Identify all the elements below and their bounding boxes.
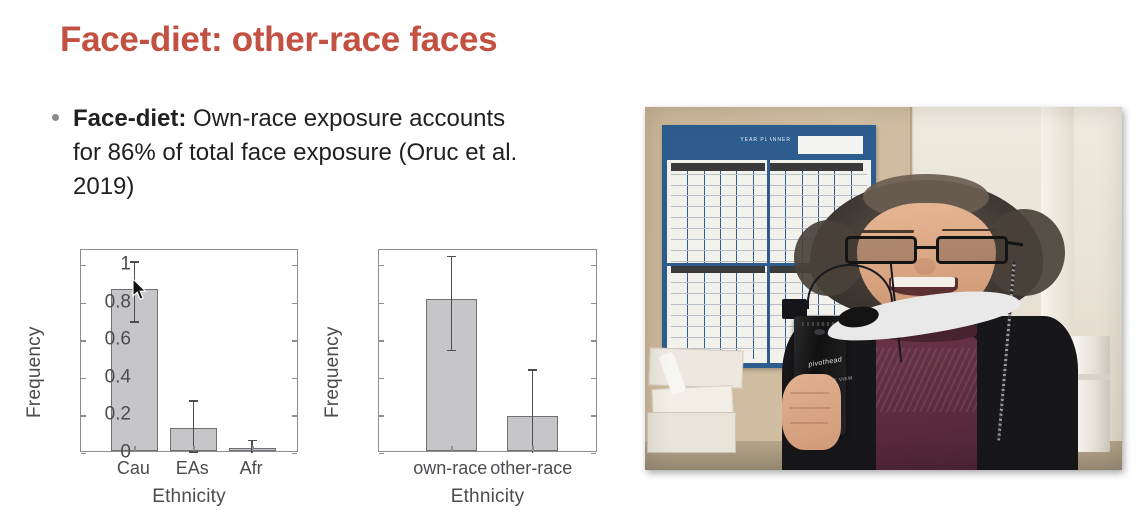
chart1-ytick-mark-right — [292, 453, 297, 454]
chart2-ytick-mark-right — [591, 303, 596, 304]
list-item: Face-diet: Own-race exposure accounts fo… — [52, 102, 522, 204]
chart2-ytick-label: 0.8 — [105, 292, 131, 311]
paper-stack-bottom — [647, 412, 736, 453]
calendar-header-box — [798, 136, 863, 154]
presenter-figure: pivothead POINT VIEW — [769, 180, 1084, 470]
chart1-ytick-mark — [81, 378, 86, 379]
chart2-ytick-mark — [379, 265, 384, 266]
page-title: Face-diet: other-race faces — [60, 20, 497, 60]
knuckle-1 — [790, 392, 829, 394]
chart1-ytick-mark-right — [292, 415, 297, 416]
chart1-errorcap-top-Afr — [248, 440, 257, 442]
chart2-ytick-label: 0.2 — [105, 405, 131, 424]
chart2-ytick-mark — [379, 453, 384, 454]
chart2-ytick-label: 0.4 — [105, 367, 131, 386]
knuckle-2 — [789, 407, 831, 409]
chart2-errorcap-top-own-race — [447, 256, 456, 258]
chart1-ytick-mark-right — [292, 265, 297, 266]
chart1-errorcap-top-EAs — [189, 400, 198, 402]
chart2-xtick-label: other-race — [490, 458, 572, 479]
chart2-errorcap-bottom-own-race — [447, 350, 456, 352]
chart1-ytick-mark-right — [292, 303, 297, 304]
chart2-ytick-mark — [379, 303, 384, 304]
hand — [782, 374, 842, 450]
chart1-xtick-label: EAs — [176, 458, 209, 479]
lens-left — [845, 236, 917, 264]
chart2-plot-area — [378, 249, 597, 452]
chart2-errorbar-own-race — [451, 256, 453, 350]
chart2-ytick-mark-right — [591, 265, 596, 266]
bullet-lead: Face-diet: — [73, 105, 186, 132]
chart2-ytick-mark — [379, 340, 384, 341]
bullet-text: Face-diet: Own-race exposure accounts fo… — [73, 102, 522, 204]
bullet-dot-icon — [52, 114, 59, 121]
chart1-ytick-mark — [81, 415, 86, 416]
chart2-ytick-mark-right — [591, 453, 596, 454]
glasses-bridge — [917, 246, 937, 249]
eyebrow-left — [860, 230, 914, 233]
photo-canvas: YEAR PLANNER — [645, 107, 1122, 470]
chart1-xtick-mark — [193, 446, 194, 451]
bar-chart-ethnicity: Frequency 00.20.40.60.81 Ethnicity CauEA… — [14, 240, 314, 515]
chart2-ytick-mark-right — [591, 415, 596, 416]
lens-right — [936, 236, 1008, 264]
chart2-errorbar-other-race — [532, 369, 534, 453]
chart2-ytick-mark-right — [591, 378, 596, 379]
chart2-ytick-mark-right — [591, 340, 596, 341]
chart2-y-ticks: 00.20.40.60.81 — [312, 240, 372, 515]
chart2-xtick-label: own-race — [413, 458, 487, 479]
chart1-y-ticks: 00.20.40.60.81 — [14, 240, 74, 515]
chart2-ytick-label: 0.6 — [105, 330, 131, 349]
chart1-xtick-mark — [134, 446, 135, 451]
chart1-errorcap-top-Cau — [130, 261, 139, 263]
chart1-ytick-mark — [81, 265, 86, 266]
chart1-errorcap-bottom-Cau — [130, 321, 139, 323]
chart2-xtick-mark — [532, 446, 533, 451]
chart2-errorcap-top-other-race — [528, 369, 537, 371]
knuckle-3 — [790, 422, 828, 424]
bullet-list: Face-diet: Own-race exposure accounts fo… — [52, 102, 522, 204]
chart1-xtick-label: Afr — [240, 458, 263, 479]
calendar-month-header — [769, 163, 863, 172]
presenter-photo: YEAR PLANNER — [645, 107, 1122, 470]
chart2-ytick-mark — [379, 415, 384, 416]
chart1-errorcap-bottom-EAs — [189, 451, 198, 453]
chart1-ytick-mark — [81, 453, 86, 454]
chart2-ytick-mark — [379, 378, 384, 379]
calendar-month-header — [671, 163, 765, 172]
chart1-errorbar-Cau — [134, 261, 136, 321]
slide: Face-diet: other-race faces Face-diet: O… — [0, 0, 1136, 532]
bar-chart-own-other-race: Frequency 00.20.40.60.81 Ethnicity own-r… — [312, 240, 612, 515]
chart1-errorbar-EAs — [193, 400, 195, 451]
chart1-ytick-mark — [81, 303, 86, 304]
calendar-header-text: YEAR PLANNER — [740, 137, 791, 143]
device-button — [814, 329, 825, 335]
teeth — [891, 277, 955, 287]
chart1-xtick-mark — [252, 446, 253, 451]
chart1-ytick-mark — [81, 340, 86, 341]
chart2-xtick-mark — [451, 446, 452, 451]
chart2-ytick-label: 1 — [120, 255, 131, 274]
chart1-x-axis-label: Ethnicity — [152, 486, 226, 508]
desk-clutter — [645, 318, 769, 456]
chart1-ytick-mark-right — [292, 378, 297, 379]
chart2-ytick-label: 0 — [120, 443, 131, 462]
chart1-ytick-mark-right — [292, 340, 297, 341]
chart2-x-axis-label: Ethnicity — [451, 486, 525, 508]
